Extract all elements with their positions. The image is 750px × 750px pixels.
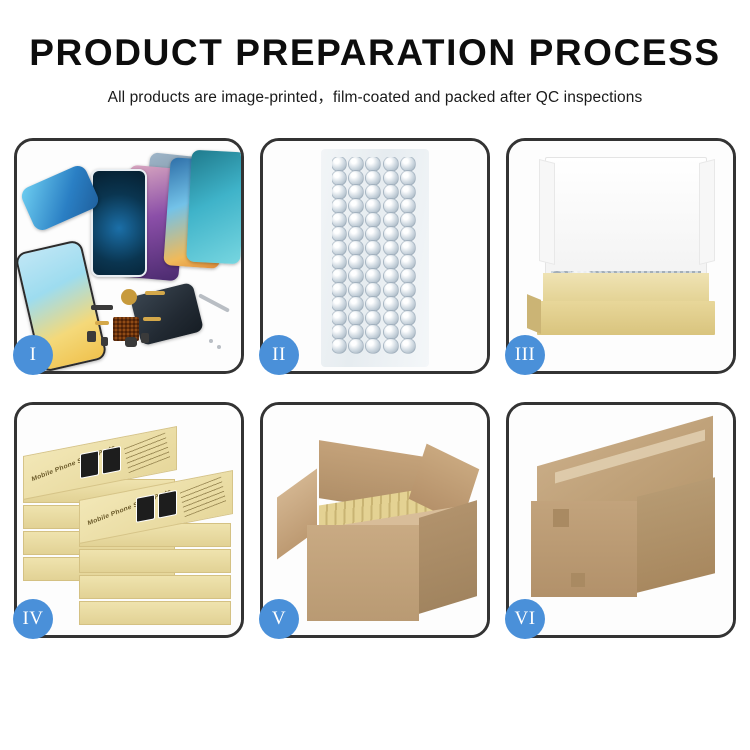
phone-screen-teal bbox=[186, 150, 241, 265]
inner-box-tray-top bbox=[543, 273, 709, 303]
step-badge-4: IV bbox=[13, 599, 53, 639]
part-tweezers bbox=[198, 293, 230, 312]
part-flex-cable-3 bbox=[95, 321, 109, 325]
retail-box-layer bbox=[79, 549, 231, 573]
phone-parts-scene bbox=[17, 141, 241, 371]
inner-box-tray-front bbox=[537, 301, 715, 335]
part-screw-2 bbox=[217, 345, 221, 349]
part-flex-cable-1 bbox=[145, 291, 165, 295]
tempered-glass-screen bbox=[91, 169, 147, 277]
step-5-image bbox=[263, 405, 487, 635]
part-battery-connector bbox=[141, 333, 149, 343]
sealed-carton-side bbox=[637, 477, 715, 592]
page-subtitle: All products are image-printed，film-coat… bbox=[0, 85, 750, 107]
retail-box-thumb bbox=[136, 494, 155, 523]
inner-box-lid-right-flap bbox=[699, 159, 715, 265]
step-6-image bbox=[509, 405, 733, 635]
step-badge-6: VI bbox=[505, 599, 545, 639]
retail-box-thumb bbox=[80, 450, 99, 479]
retail-box-layer bbox=[79, 601, 231, 625]
retail-box-thumb bbox=[102, 446, 121, 475]
process-step-5[interactable]: V bbox=[260, 402, 490, 638]
retail-box-spec-lines bbox=[124, 433, 170, 474]
process-step-1[interactable]: I bbox=[14, 138, 244, 374]
process-step-6[interactable]: VI bbox=[506, 402, 736, 638]
retail-box-spec-lines bbox=[180, 477, 226, 518]
part-flex-cable-2 bbox=[143, 317, 161, 321]
bubble bbox=[365, 338, 381, 354]
process-step-grid: I II III bbox=[14, 138, 736, 638]
part-antenna bbox=[91, 305, 113, 310]
bubble bbox=[383, 338, 399, 354]
blue-film-screen bbox=[19, 163, 102, 233]
step-3-image bbox=[509, 141, 733, 371]
bubble bbox=[332, 338, 347, 354]
page-header: PRODUCT PREPARATION PROCESS All products… bbox=[0, 0, 750, 107]
process-step-2[interactable]: II bbox=[260, 138, 490, 374]
part-connector-1 bbox=[87, 331, 96, 342]
step-badge-1: I bbox=[13, 335, 53, 375]
step-badge-3: III bbox=[505, 335, 545, 375]
part-speaker bbox=[121, 289, 137, 305]
carton-tab-lower bbox=[571, 573, 585, 587]
step-badge-2: II bbox=[259, 335, 299, 375]
bubble bbox=[348, 338, 364, 354]
step-1-image bbox=[17, 141, 241, 371]
carton-tab-upper bbox=[553, 509, 569, 527]
inner-box-lid-left-flap bbox=[539, 159, 555, 265]
inner-box-tray-side bbox=[527, 294, 541, 334]
retail-box-layer bbox=[79, 575, 231, 599]
step-badge-5: V bbox=[259, 599, 299, 639]
process-step-4[interactable]: Mobile Phone Spare Parts Mobile Phone Sp… bbox=[14, 402, 244, 638]
part-screw-1 bbox=[209, 339, 213, 343]
part-camera-module bbox=[125, 337, 137, 347]
retail-box-thumb bbox=[158, 490, 177, 519]
bubble bbox=[400, 338, 416, 354]
retail-box-stack: Mobile Phone Spare Parts Mobile Phone Sp… bbox=[23, 423, 241, 623]
step-4-image: Mobile Phone Spare Parts Mobile Phone Sp… bbox=[17, 405, 241, 635]
carton-side-face bbox=[419, 500, 477, 614]
page-title: PRODUCT PREPARATION PROCESS bbox=[0, 34, 750, 71]
process-step-3[interactable]: III bbox=[506, 138, 736, 374]
part-connector-2 bbox=[101, 337, 108, 346]
carton-front-face bbox=[307, 525, 419, 621]
inner-box-lid bbox=[545, 157, 707, 277]
step-2-image bbox=[263, 141, 487, 371]
bubble-wrap-bubbles bbox=[332, 157, 418, 357]
